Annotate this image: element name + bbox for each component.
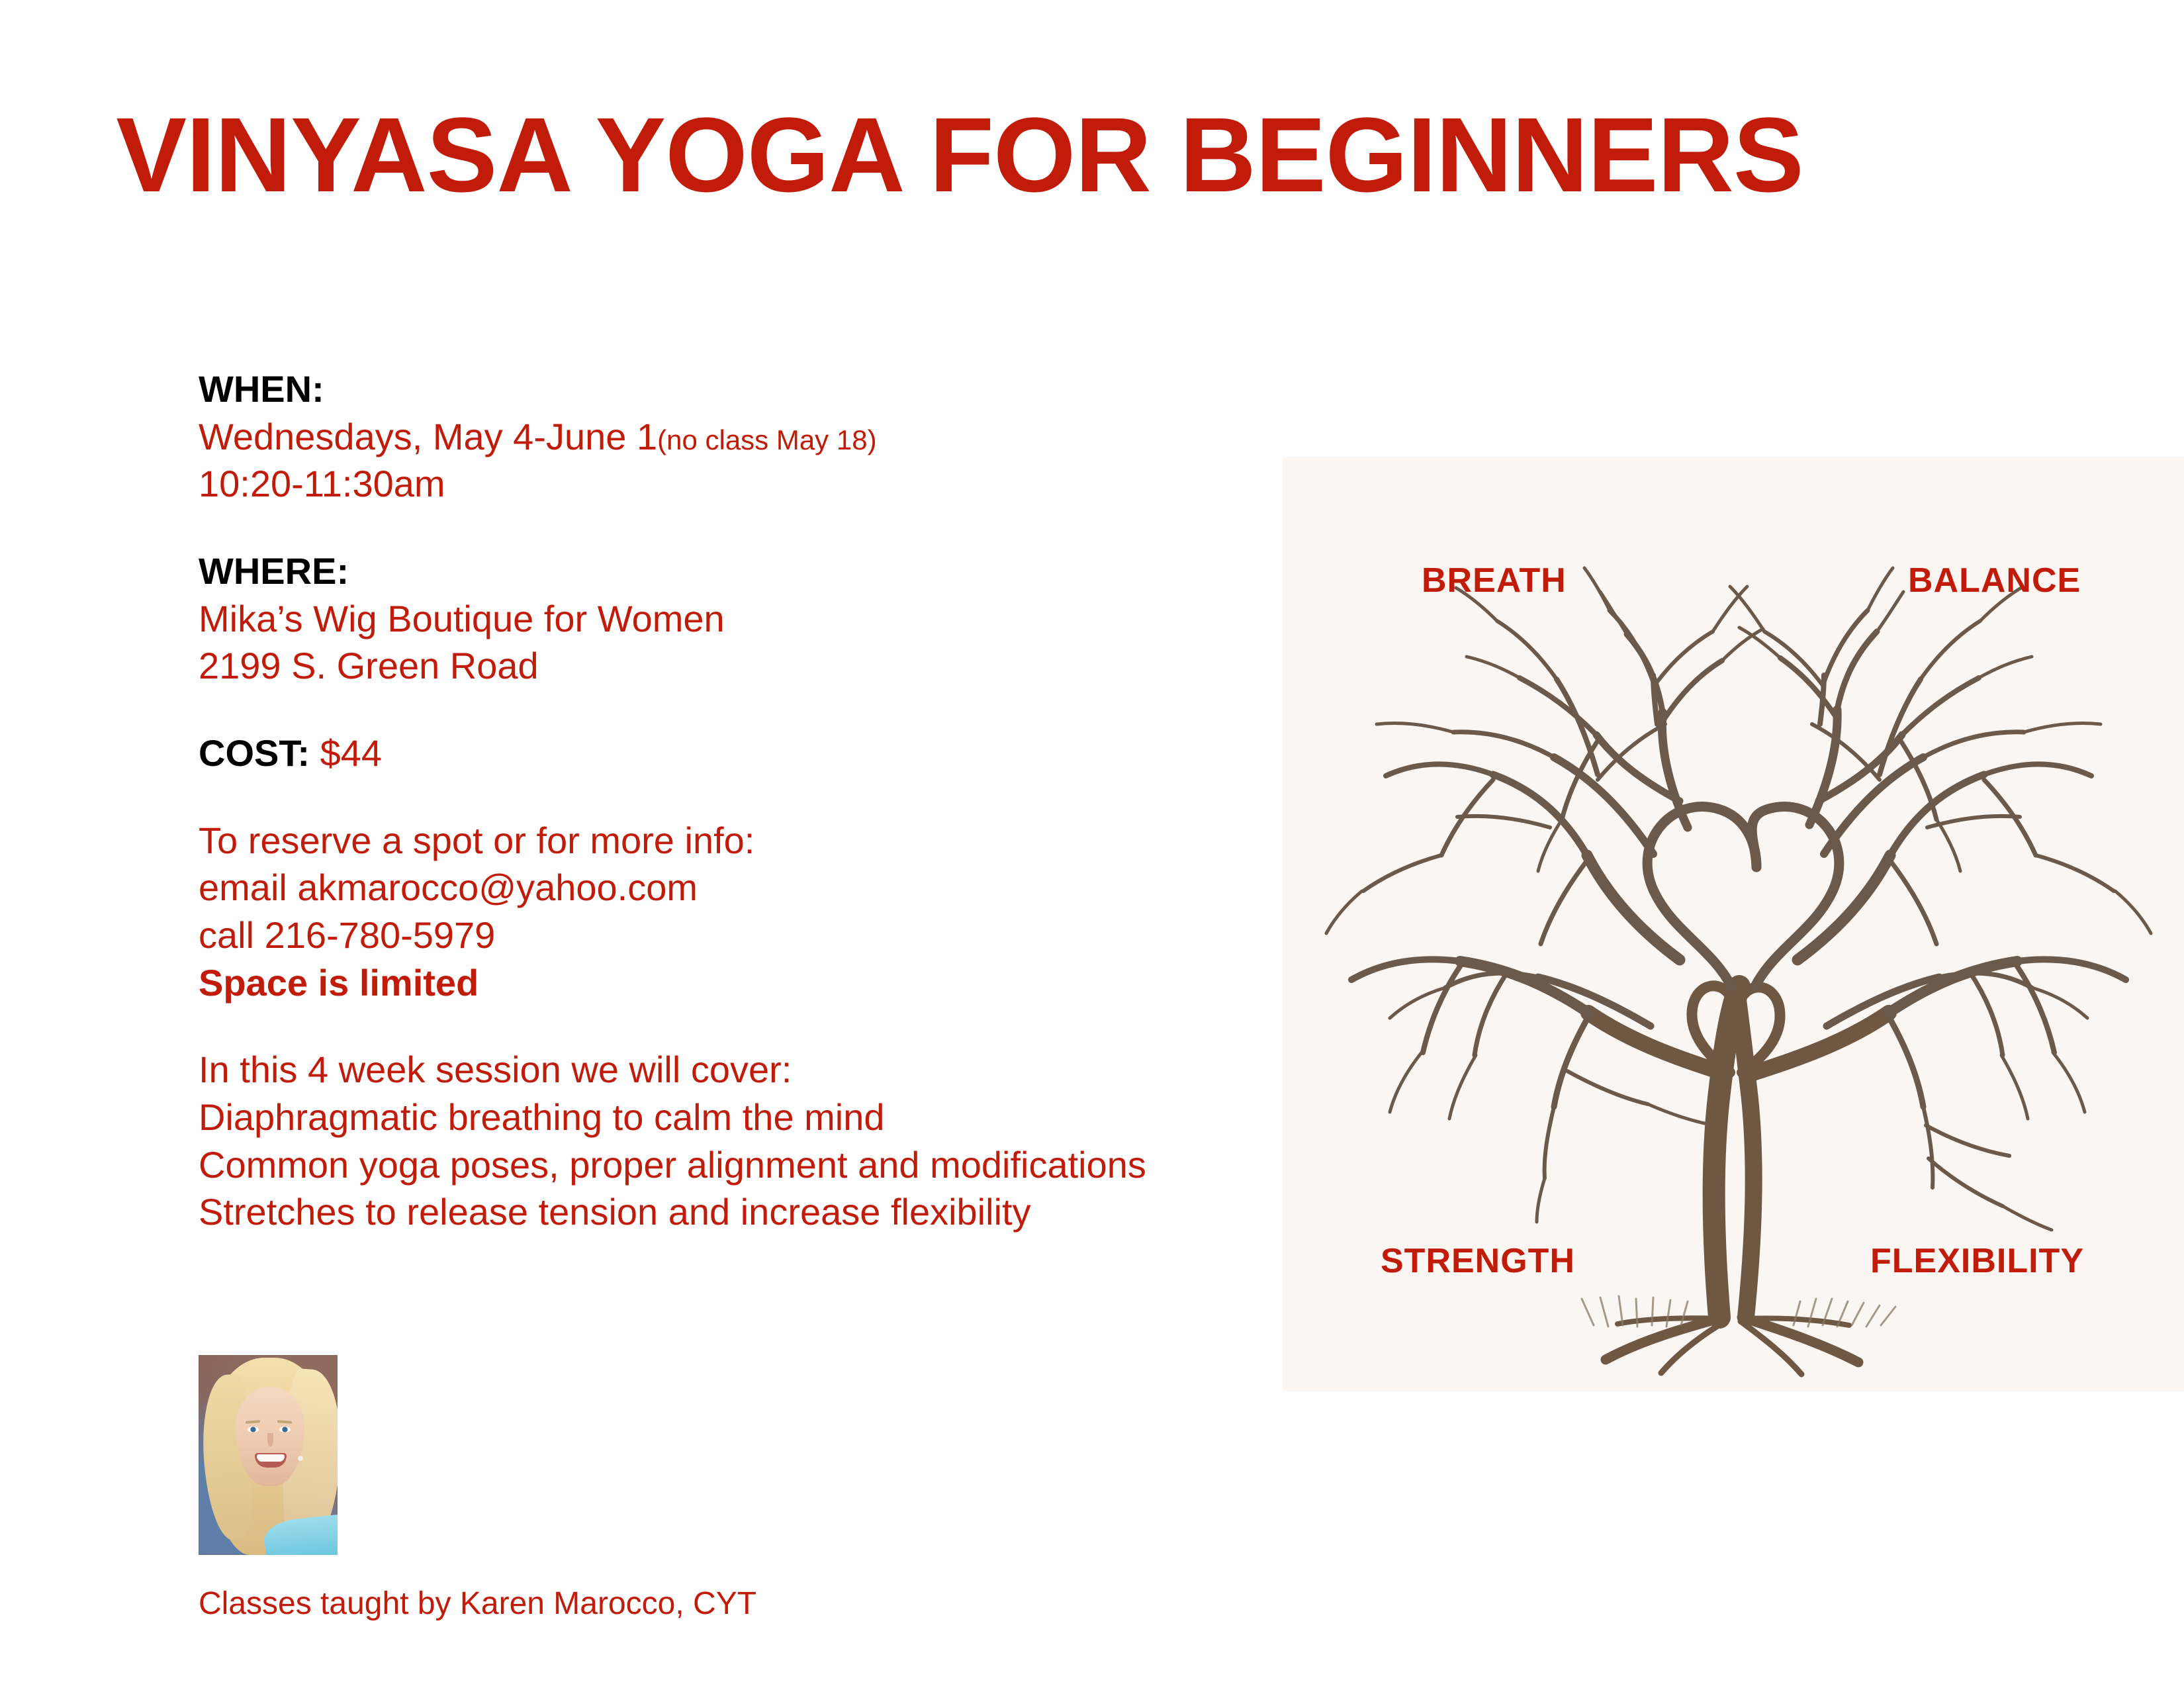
curriculum-item: Common yoga poses, proper alignment and … [199,1141,1257,1189]
curriculum-item: Stretches to release tension and increas… [199,1188,1257,1236]
space-limited-notice: Space is limited [199,959,1257,1007]
when-dates-line: Wednesdays, May 4-June 1(no class May 18… [199,413,1257,461]
curriculum-block: In this 4 week session we will cover: Di… [199,1046,1257,1236]
tree-label-balance: BALANCE [1908,561,2081,600]
where-block: WHERE: Mika’s Wig Boutique for Women 219… [199,547,1257,690]
tree-label-breath: BREATH [1422,561,1567,600]
cost-value: $44 [320,732,382,774]
when-time: 10:20-11:30am [199,460,1257,508]
cost-label: COST: [199,732,310,774]
when-block: WHEN: Wednesdays, May 4-June 1(no class … [199,365,1257,508]
when-label: WHEN: [199,365,1257,413]
curriculum-heading: In this 4 week session we will cover: [199,1046,1257,1094]
nose [267,1433,273,1446]
contact-intro: To reserve a spot or for more info: [199,817,1257,865]
where-label: WHERE: [199,547,1257,595]
where-address: 2199 S. Green Road [199,642,1257,690]
spacer-2 [199,690,1257,729]
eye-left [248,1427,259,1432]
earring [298,1456,303,1461]
page-title: VINYASA YOGA FOR BEGINNERS [0,99,1919,211]
contact-block: To reserve a spot or for more info: emai… [199,817,1257,1007]
details-column: WHEN: Wednesdays, May 4-June 1(no class … [199,365,1257,1236]
tree-illustration-panel: BREATH BALANCE STRENGTH FLEXIBILITY [1283,457,2184,1391]
when-dates: Wednesdays, May 4-June 1 [199,416,657,457]
teeth [257,1454,285,1462]
where-venue: Mika’s Wig Boutique for Women [199,595,1257,643]
spacer-1 [199,508,1257,547]
when-dates-note: (no class May 18) [657,424,876,455]
curriculum-item: Diaphragmatic breathing to calm the mind [199,1094,1257,1141]
spacer-4 [199,1006,1257,1046]
contact-email[interactable]: email akmarocco@yahoo.com [199,864,1257,912]
tree-label-strength: STRENGTH [1381,1241,1575,1281]
spacer-3 [199,777,1257,817]
instructor-caption: Classes taught by Karen Marocco, CYT [199,1585,756,1622]
contact-phone[interactable]: call 216-780-5979 [199,912,1257,959]
instructor-photo [199,1355,338,1555]
tree-label-flexibility: FLEXIBILITY [1870,1241,2084,1281]
cost-block: COST: $44 [199,729,1257,777]
eye-right [279,1427,291,1432]
